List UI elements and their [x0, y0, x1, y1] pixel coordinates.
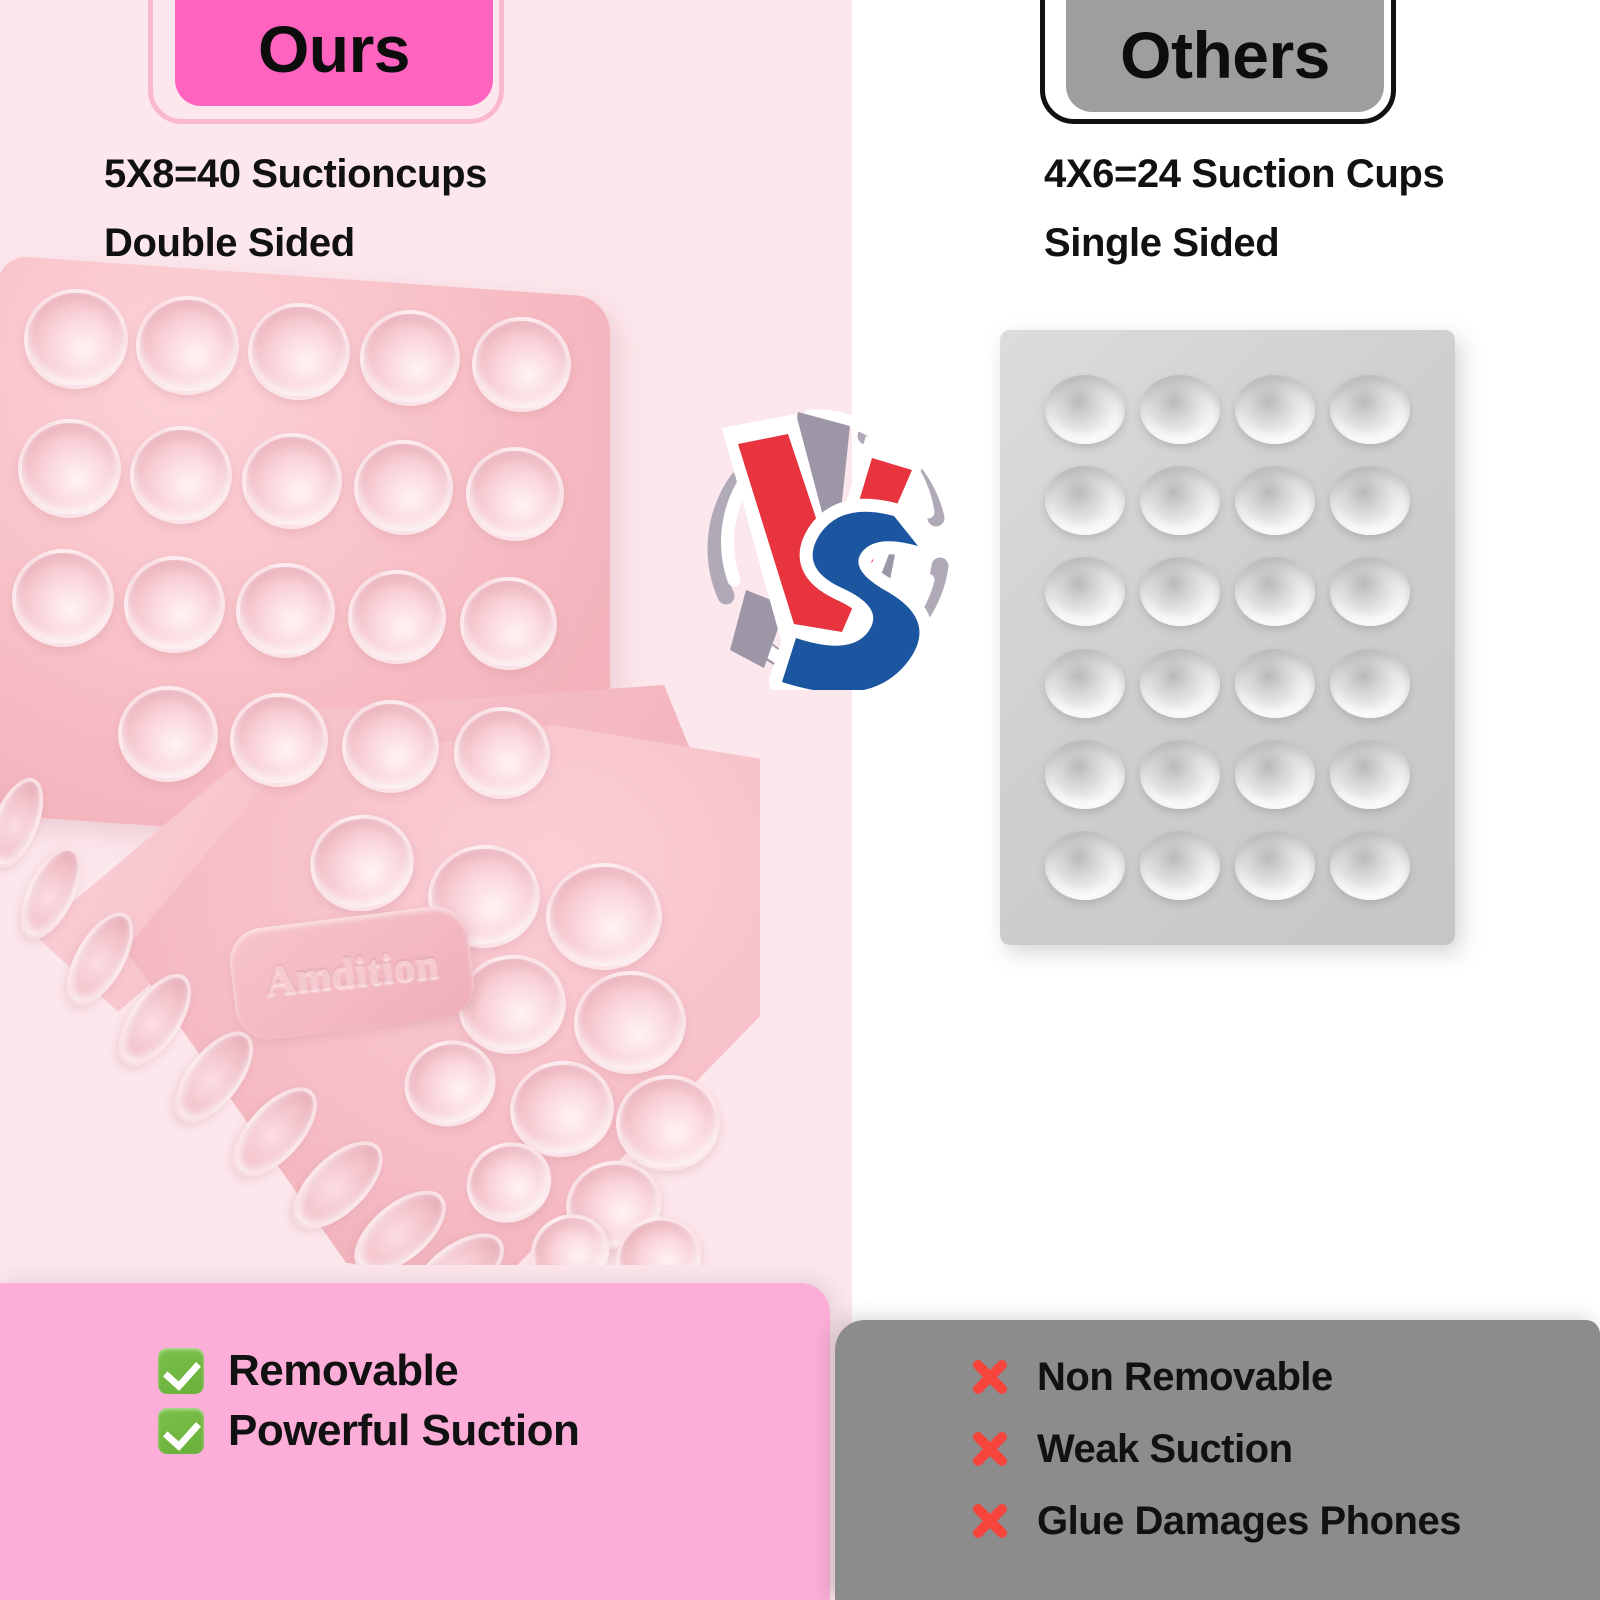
check-icon [158, 1348, 204, 1394]
suction-cup [1235, 466, 1315, 535]
suction-cup [1140, 557, 1220, 626]
suction-cup [1045, 649, 1125, 718]
suction-cup [1235, 375, 1315, 444]
suction-cup [1140, 649, 1220, 718]
list-item: Non Removable [965, 1352, 1461, 1402]
ours-spec-cup-count: 5X8=40 Suctioncups [104, 152, 487, 197]
list-item: Powerful Suction [158, 1408, 579, 1454]
suction-cup [1330, 466, 1410, 535]
suction-cup [1140, 831, 1220, 900]
suction-cup [1235, 557, 1315, 626]
list-item: Weak Suction [965, 1424, 1461, 1474]
others-feature-list: Non Removable Weak Suction Glue Damages … [965, 1352, 1461, 1568]
feature-label: Non Removable [1037, 1357, 1333, 1397]
feature-label: Glue Damages Phones [1037, 1501, 1461, 1541]
brand-name: Amdition [263, 940, 441, 1006]
suction-cup [117, 685, 218, 782]
feature-label: Removable [228, 1349, 458, 1393]
check-icon [158, 1408, 204, 1454]
suction-cup [1045, 740, 1125, 809]
list-item: Removable [158, 1348, 579, 1394]
ours-spec-sided: Double Sided [104, 221, 355, 266]
suction-cup [248, 303, 350, 401]
suction-cup [1330, 557, 1410, 626]
suction-cup [1045, 557, 1125, 626]
cross-icon [965, 1424, 1015, 1474]
cross-icon [965, 1352, 1015, 1402]
vs-emblem [690, 400, 970, 690]
suction-cup [1330, 649, 1410, 718]
suction-cup [1330, 375, 1410, 444]
others-badge: Others [1066, 0, 1384, 112]
cross-icon [965, 1496, 1015, 1546]
suction-cup [1235, 740, 1315, 809]
ours-feature-list: Removable Powerful Suction [158, 1348, 579, 1468]
others-product-image [1000, 330, 1455, 945]
feature-label: Powerful Suction [228, 1409, 579, 1453]
suction-cup [135, 295, 239, 395]
suction-cup [129, 425, 232, 524]
suction-cup [123, 555, 225, 653]
feature-label: Weak Suction [1037, 1429, 1293, 1469]
suction-cup [1140, 466, 1220, 535]
suction-cup [1235, 831, 1315, 900]
suction-cup [1330, 740, 1410, 809]
ours-badge-label: Ours [258, 16, 410, 106]
ours-product-image: Amdition [0, 255, 780, 1265]
suction-cup [1330, 831, 1410, 900]
ours-badge: Ours [175, 0, 493, 106]
suction-cup [1045, 375, 1125, 444]
suction-cup [1045, 831, 1125, 900]
others-badge-label: Others [1120, 22, 1330, 112]
suction-cup [1140, 740, 1220, 809]
suction-cup [1235, 649, 1315, 718]
suction-cup [1140, 375, 1220, 444]
others-spec-cup-count: 4X6=24 Suction Cups [1044, 152, 1444, 197]
list-item: Glue Damages Phones [965, 1496, 1461, 1546]
others-spec-sided: Single Sided [1044, 221, 1279, 266]
comparison-infographic: Amdition [0, 0, 1600, 1600]
suction-cup [1045, 466, 1125, 535]
